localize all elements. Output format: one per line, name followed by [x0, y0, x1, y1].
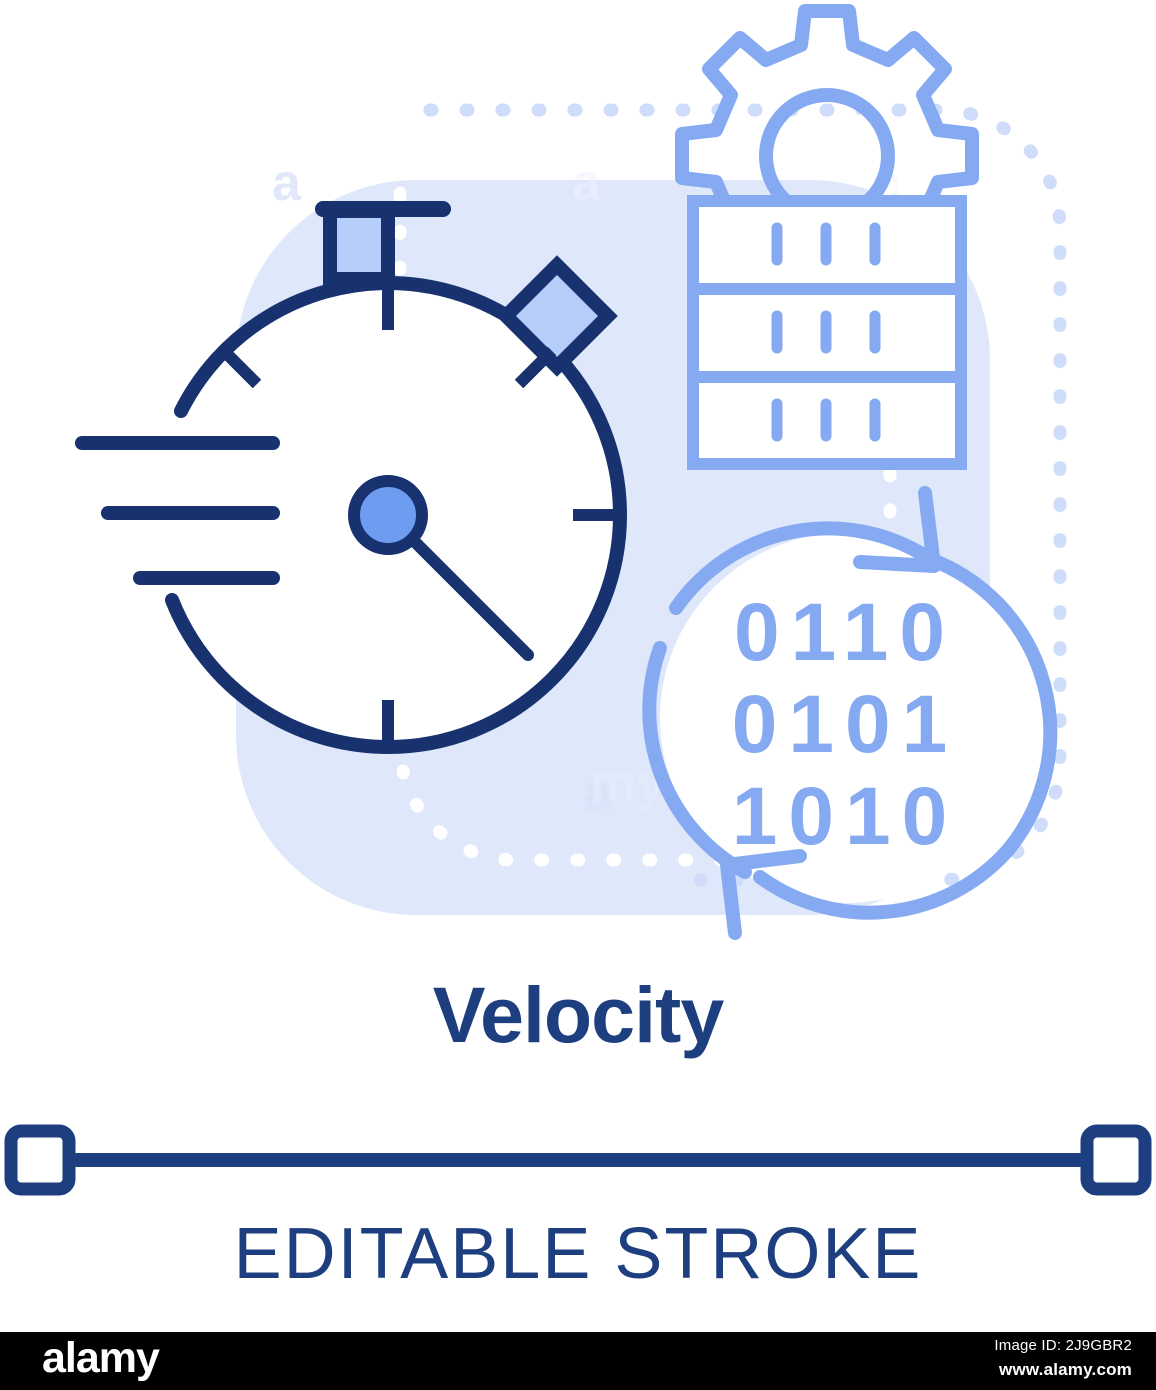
stroke-anchor-left [11, 1131, 69, 1189]
stock-footer-bar: alamy Image ID: 2J9GBR2 www.alamy.com [0, 1332, 1156, 1390]
editable-stroke-rule [0, 1120, 1156, 1200]
svg-text:a: a [272, 154, 302, 212]
illustration-page: a a a a a a a my [0, 0, 1156, 1390]
binary-digits: 0110 0101 1010 [732, 587, 958, 862]
alamy-logo: alamy [42, 1336, 159, 1381]
server-rack-icon [693, 201, 961, 464]
stopwatch-icon [156, 209, 620, 747]
binary-row-1: 0101 [732, 679, 958, 770]
editable-stroke-label: EDITABLE STROKE [0, 1218, 1156, 1290]
stroke-anchor-right [1087, 1131, 1145, 1189]
svg-text:a: a [572, 154, 602, 212]
velocity-concept-illustration: a a a a a a a my [0, 0, 1156, 960]
concept-title: Velocity [0, 975, 1156, 1054]
binary-row-2: 1010 [732, 771, 958, 862]
binary-row-0: 0110 [734, 587, 956, 678]
stopwatch-hub [354, 481, 422, 549]
alamy-url: www.alamy.com [999, 1360, 1132, 1380]
stopwatch-crown-body [330, 211, 388, 279]
image-id-label: Image ID: 2J9GBR2 [994, 1337, 1132, 1354]
